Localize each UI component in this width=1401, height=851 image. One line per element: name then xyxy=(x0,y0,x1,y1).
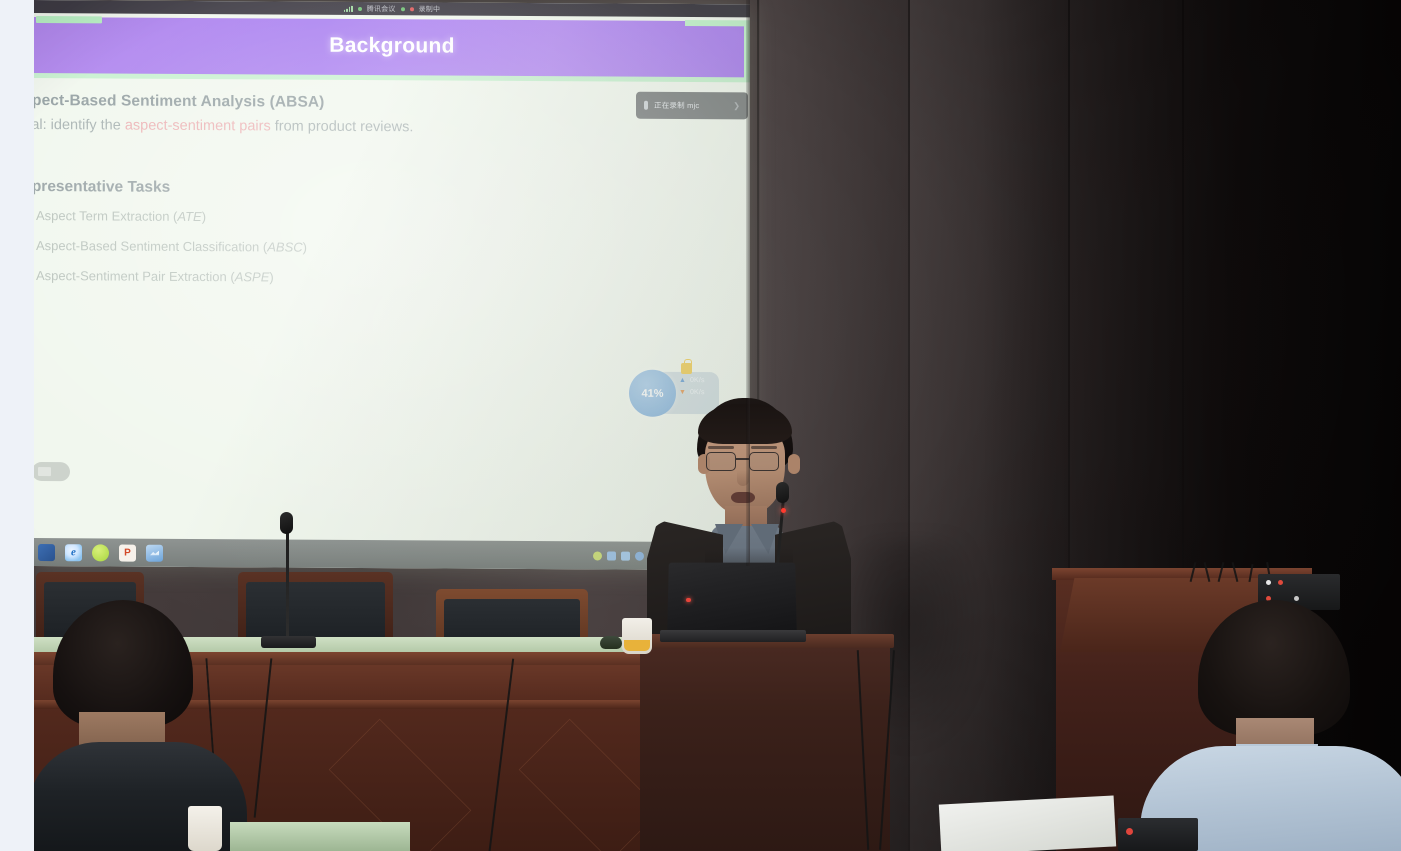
signal-bars-icon xyxy=(344,5,353,11)
goal-prefix: Goal: identify the xyxy=(34,117,125,134)
taskbar-left-icons: e P xyxy=(34,544,163,562)
task-abbr: ABSC xyxy=(267,239,302,254)
microphone-icon xyxy=(401,7,405,11)
screen-edge xyxy=(746,0,750,566)
task-name: Aspect-Sentiment Pair Extraction xyxy=(36,268,227,284)
recording-status-label: 录制中 xyxy=(419,4,441,14)
meeting-app-name: 腾讯会议 xyxy=(367,4,396,14)
record-indicator-icon xyxy=(410,7,414,11)
presenter-mouth xyxy=(731,492,755,503)
section-heading-absa: Aspect-Based Sentiment Analysis (ABSA) xyxy=(34,92,730,114)
download-arrow-icon: ▼ xyxy=(679,389,686,396)
presenter-microphone-head xyxy=(776,482,789,503)
av-led-white-icon xyxy=(1266,580,1271,585)
task-name: Aspect Term Extraction xyxy=(36,208,169,224)
presenter-brow-left xyxy=(708,446,734,449)
goal-highlight: aspect-sentiment pairs xyxy=(125,118,271,135)
microphone-led-icon xyxy=(781,508,786,513)
internet-explorer-icon[interactable]: e xyxy=(65,544,82,561)
conference-room-photo: 腾讯会议 录制中 Background Aspect-Based Sentime… xyxy=(0,0,1401,851)
front-desk-surface xyxy=(230,822,410,851)
upload-arrow-icon: ▲ xyxy=(679,377,686,384)
slide-title: Background xyxy=(34,13,750,79)
powerpoint-icon[interactable]: P xyxy=(119,544,136,561)
goal-suffix: from product reviews. xyxy=(271,118,414,135)
glasses-lens-right xyxy=(749,452,779,471)
photo-viewer-icon[interactable] xyxy=(146,544,163,561)
task-name: Aspect-Based Sentiment Classification xyxy=(36,238,259,254)
tray-globe-icon[interactable] xyxy=(635,551,644,560)
presenter-hair-front xyxy=(698,404,792,444)
section-heading-tasks: Representative Tasks xyxy=(34,178,730,200)
windows-taskbar[interactable]: e P xyxy=(34,538,750,570)
download-row: ▼ 0K/s xyxy=(679,389,705,396)
list-item: Aspect-Based Sentiment Classification (A… xyxy=(34,238,730,257)
chevron-right-icon[interactable]: ❯ xyxy=(733,101,740,110)
green-app-icon[interactable] xyxy=(92,544,109,561)
recording-toast[interactable]: 正在录制 mjc ❯ xyxy=(636,92,748,120)
laptop-power-led-icon xyxy=(686,598,691,602)
slide-body: Aspect-Based Sentiment Analysis (ABSA) G… xyxy=(34,78,750,542)
presenter-laptop-base xyxy=(660,630,806,642)
tray-arrow-icon[interactable] xyxy=(621,551,630,560)
glasses-lens-left xyxy=(706,452,736,471)
slide-title-banner: Background xyxy=(34,13,750,82)
network-speed-rows: ▲ 0K/s ▼ 0K/s xyxy=(679,377,705,396)
start-button-icon[interactable] xyxy=(38,544,55,561)
photo-left-margin xyxy=(0,0,34,851)
paper-coffee-cup xyxy=(622,618,652,654)
download-value: 0K/s xyxy=(690,389,705,396)
upload-value: 0K/s xyxy=(690,377,705,384)
paper-coffee-cup-left xyxy=(188,806,222,851)
task-abbr: ASPE xyxy=(235,269,270,284)
recording-toast-label: 正在录制 mjc xyxy=(654,100,699,111)
audience-member-right xyxy=(1150,600,1401,851)
presenter-ear-right xyxy=(788,454,800,474)
audience-left-hair xyxy=(53,600,193,728)
presenter-brow-right xyxy=(751,446,777,449)
microphone-icon xyxy=(644,101,648,110)
tray-screen-icon[interactable] xyxy=(607,551,616,560)
wooden-podium xyxy=(640,640,890,851)
av-led-red-icon xyxy=(1278,580,1283,585)
lock-icon xyxy=(681,363,692,374)
task-bullet-list: Aspect Term Extraction (ATE) Aspect-Base… xyxy=(34,208,730,287)
navigation-pill-button[interactable] xyxy=(34,462,70,481)
status-dot-icon xyxy=(358,6,362,10)
gooseneck-microphone xyxy=(258,512,318,647)
audience-right-hair xyxy=(1198,600,1350,736)
goal-line: Goal: identify the aspect-sentiment pair… xyxy=(34,117,730,137)
task-abbr: ATE xyxy=(177,209,201,224)
upload-row: ▲ 0K/s xyxy=(679,377,705,384)
projection-screen: 腾讯会议 录制中 Background Aspect-Based Sentime… xyxy=(34,0,750,570)
computer-mouse xyxy=(600,636,622,649)
list-item: Aspect-Sentiment Pair Extraction (ASPE) xyxy=(34,268,730,287)
list-item: Aspect Term Extraction (ATE) xyxy=(34,208,730,227)
documents-on-desk xyxy=(939,795,1116,851)
tray-colorful-icon[interactable] xyxy=(593,551,602,560)
audience-laptop xyxy=(1118,818,1198,851)
